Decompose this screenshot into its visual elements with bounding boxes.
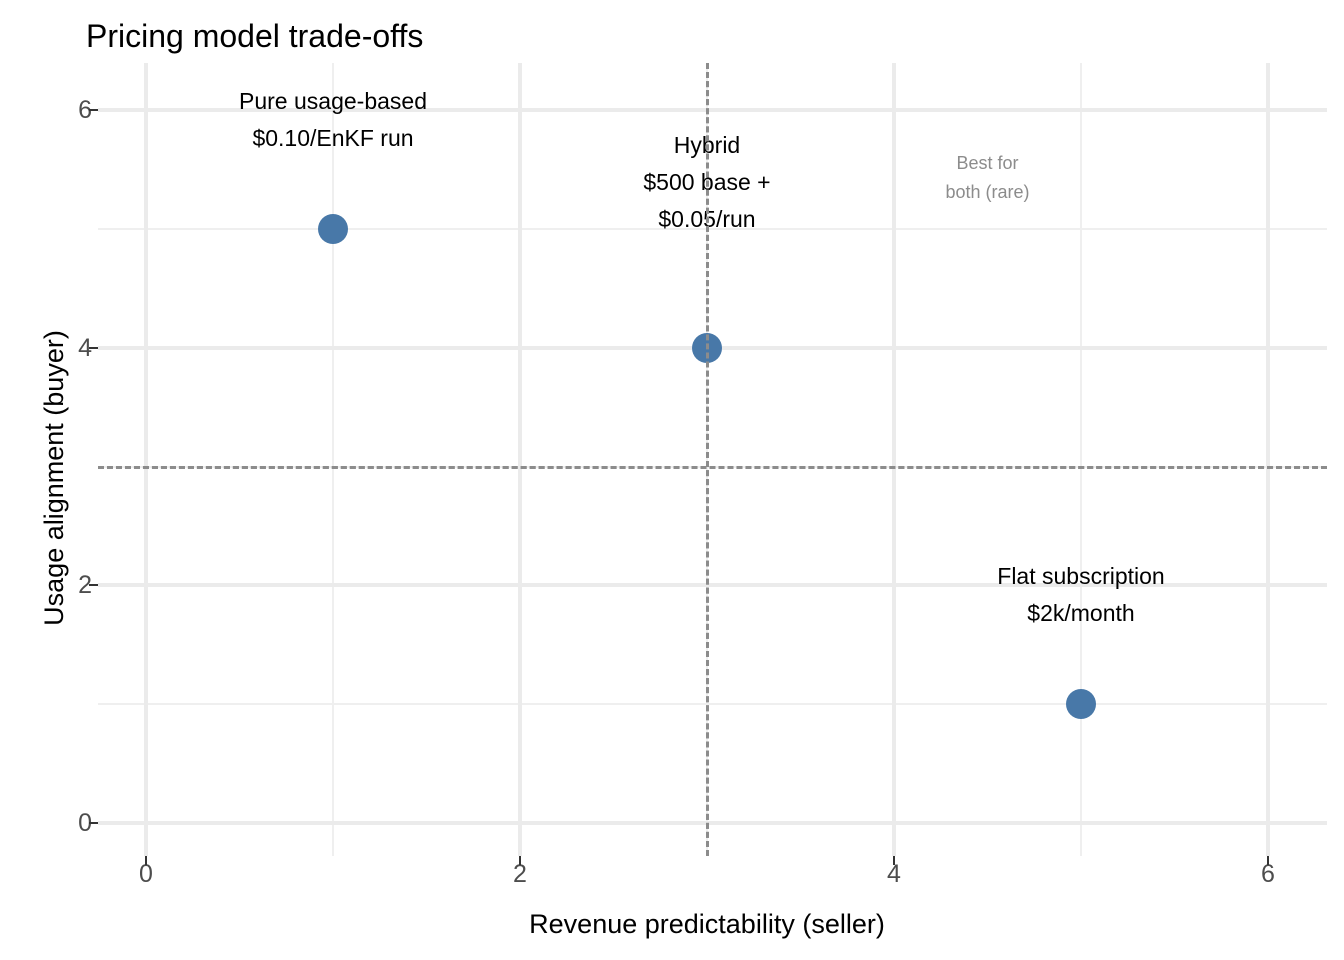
data-point-pure-usage-based[interactable] [318,214,348,244]
reference-line-overlay-horizontal-midline [98,466,1327,469]
point-label-line: Flat subscription [821,558,1341,595]
x-tick-label: 4 [864,862,924,887]
x-tick-label: 6 [1238,862,1298,887]
y-tick-label: 2 [32,573,92,598]
x-tick-label: 0 [116,862,176,887]
y-tick-mark [89,347,98,349]
gridline-minor-horizontal [98,703,1327,705]
reference-line-overlay-vertical-midline [706,63,709,856]
x-tick-mark [145,856,147,865]
annotation-line: Best for [788,149,1188,178]
x-axis-title: Revenue predictability (seller) [146,906,1268,942]
chart-title: Pricing model trade-offs [86,16,423,56]
x-tick-mark [1267,856,1269,865]
x-tick-label: 2 [490,862,550,887]
gridline-major-vertical [144,63,148,856]
y-tick-mark [89,584,98,586]
annotation-line: both (rare) [788,178,1188,207]
point-label-line: $2k/month [821,595,1341,632]
gridline-minor-vertical [332,63,334,856]
scatter-chart: Pricing model trade-offs Usage alignment… [0,0,1344,960]
y-tick-mark [89,822,98,824]
point-label-line: Pure usage-based [73,83,593,120]
y-axis-title: Usage alignment (buyer) [36,118,72,838]
annotation-best-for-both: Best forboth (rare) [788,149,1188,207]
x-tick-mark [519,856,521,865]
x-tick-mark [893,856,895,865]
y-tick-label: 0 [32,811,92,836]
gridline-major-horizontal [98,821,1327,825]
y-tick-label: 4 [32,336,92,361]
point-label-flat-subscription: Flat subscription$2k/month [821,558,1341,632]
data-point-flat-subscription[interactable] [1066,689,1096,719]
gridline-major-vertical [1266,63,1270,856]
